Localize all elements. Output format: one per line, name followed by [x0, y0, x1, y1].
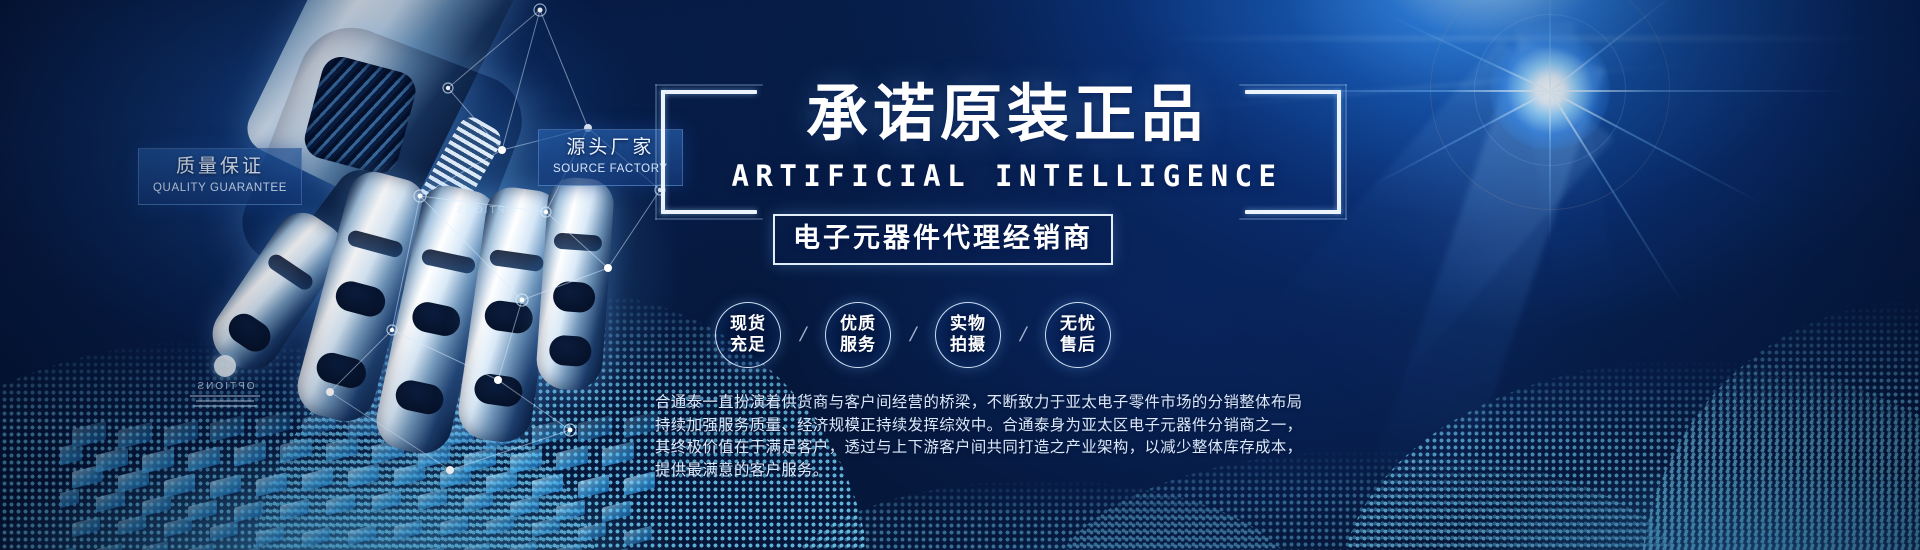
vignette-overlay	[0, 0, 1920, 550]
hero-banner: OPTIONS OPTIONS 质量保证 QUALITY GUARANTEE 源…	[0, 0, 1920, 550]
